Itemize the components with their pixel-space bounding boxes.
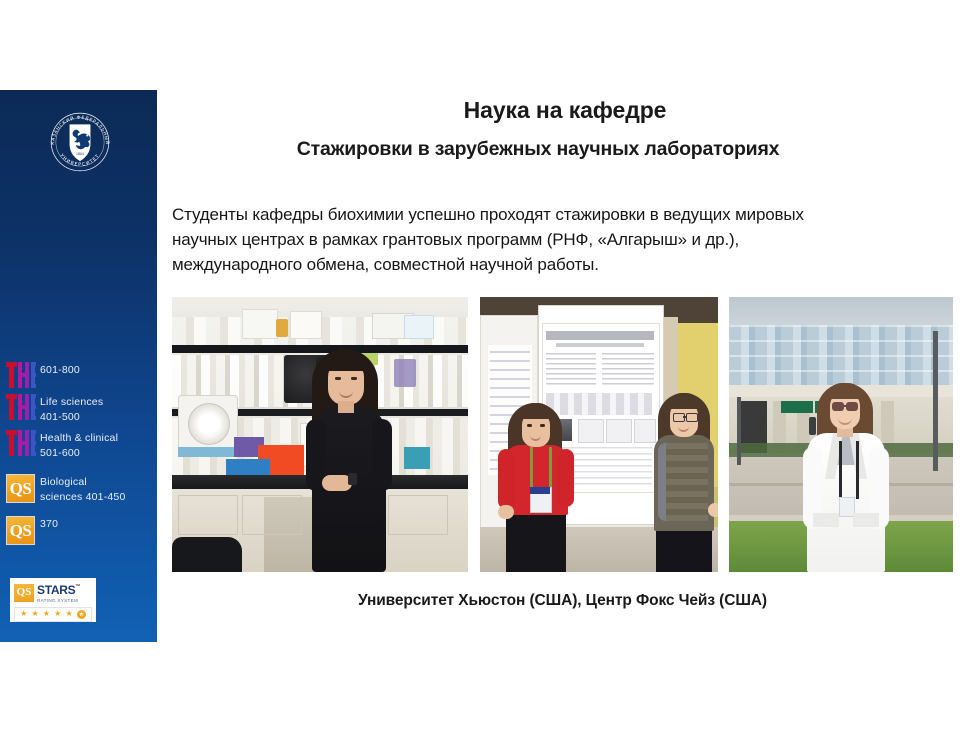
- photo-poster-session: [480, 297, 718, 572]
- ranking-line: Health & clinical: [40, 431, 157, 446]
- qs-logo-text: QS: [6, 474, 35, 503]
- qs-stars-logo-icon: QS: [14, 584, 34, 602]
- qs-logo-icon: QS: [6, 516, 40, 545]
- ranking-line: 370: [40, 517, 157, 532]
- ranking-row-the-life-sciences: Life sciences 401-500: [0, 394, 157, 424]
- star-highlight-icon: ★: [77, 610, 86, 619]
- body-paragraph: Студенты кафедры биохимии успешно проход…: [172, 202, 932, 277]
- qs-stars-rating-row: ★ ★ ★ ★ ★ ★: [14, 607, 92, 622]
- qs-stars-title: STARS: [37, 583, 75, 597]
- ranking-row-qs-overall: QS 370: [0, 516, 157, 545]
- qs-logo-icon: QS: [6, 474, 40, 503]
- ranking-line: 401-500: [40, 410, 157, 425]
- body-line: международного обмена, совместной научно…: [172, 252, 932, 277]
- ranking-text: 370: [40, 516, 157, 532]
- page-subtitle: Стажировки в зарубежных научных лаборато…: [168, 138, 908, 161]
- ranking-text: Life sciences 401-500: [40, 394, 157, 424]
- star-icon: ★: [20, 610, 27, 618]
- the-logo-icon: [6, 362, 40, 388]
- ranking-text: Health & clinical 501-600: [40, 430, 157, 460]
- ranking-row-qs-biological-sciences: QS Biological sciences 401-450: [0, 474, 157, 504]
- qs-stars-badge: QS STARS™ RATING SYSTEM ★ ★ ★ ★ ★ ★: [10, 578, 96, 622]
- photo-lab-coat-outdoors: [729, 297, 953, 572]
- trademark-mark: ™: [75, 584, 80, 590]
- body-line: научных центрах в рамках грантовых прогр…: [172, 227, 932, 252]
- body-line: Студенты кафедры биохимии успешно проход…: [172, 202, 932, 227]
- ranking-text: Biological sciences 401-450: [40, 474, 157, 504]
- the-logo-icon: [6, 430, 40, 456]
- the-logo-icon: [6, 394, 40, 420]
- star-icon: ★: [54, 610, 61, 618]
- ranking-row-the-overall: 601-800: [0, 362, 157, 388]
- rankings-list: 601-800 Life sciences 401-500: [0, 362, 157, 551]
- kfu-crest-icon: КАЗАНСКИЙ ФЕДЕРАЛЬНЫЙ УНИВЕРСИТЕТ 1804: [44, 104, 116, 180]
- ranking-text: 601-800: [40, 362, 157, 378]
- ranking-line: sciences 401-450: [40, 490, 157, 505]
- svg-text:1804: 1804: [76, 152, 84, 156]
- ranking-line: Biological: [40, 475, 157, 490]
- qs-logo-text: QS: [6, 516, 35, 545]
- sidebar-branding-panel: КАЗАНСКИЙ ФЕДЕРАЛЬНЫЙ УНИВЕРСИТЕТ 1804: [0, 90, 157, 642]
- ranking-line: Life sciences: [40, 395, 157, 410]
- ranking-line: 601-800: [40, 363, 157, 378]
- star-icon: ★: [43, 610, 50, 618]
- page-title: Наука на кафедре: [175, 97, 955, 124]
- star-icon: ★: [66, 610, 73, 618]
- photo-caption: Университет Хьюстон (США), Центр Фокс Че…: [172, 592, 953, 610]
- qs-stars-subtitle: RATING SYSTEM: [37, 599, 80, 604]
- star-icon: ★: [31, 610, 38, 618]
- ranking-row-the-health-clinical: Health & clinical 501-600: [0, 430, 157, 460]
- photo-lab-researcher: [172, 297, 468, 572]
- slide-canvas: КАЗАНСКИЙ ФЕДЕРАЛЬНЫЙ УНИВЕРСИТЕТ 1804: [0, 0, 980, 735]
- ranking-line: 501-600: [40, 446, 157, 461]
